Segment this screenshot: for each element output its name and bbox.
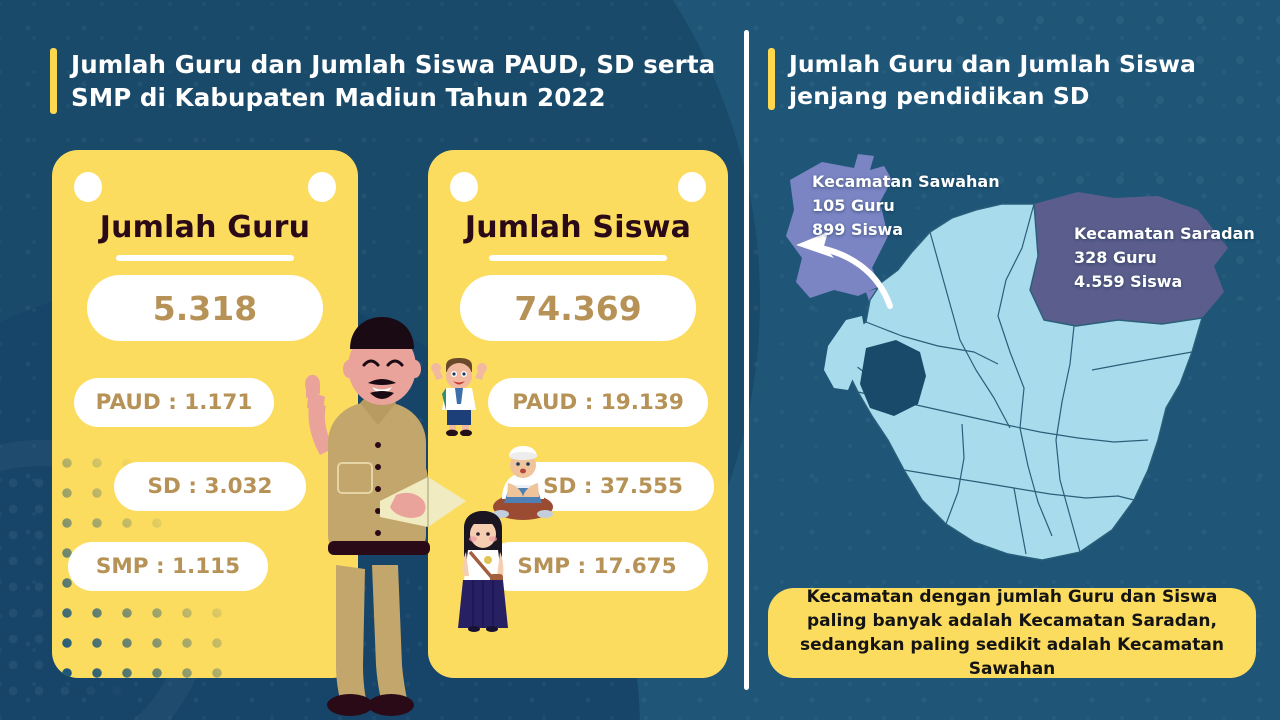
map-label-teachers: 105 Guru [812,194,1000,218]
card-title: Jumlah Siswa [428,210,728,245]
card-title-underline [489,255,667,261]
card-row-paud: PAUD : 1.171 [74,378,274,427]
punch-hole-icon [450,172,478,202]
panel-divider [744,30,749,690]
card-total-value: 74.369 [460,275,696,341]
map-region-enclave-dark [860,340,926,416]
card-row-smp: SMP : 1.115 [68,542,268,591]
card-row-paud: PAUD : 19.139 [488,378,708,427]
card-title-underline [116,255,294,261]
left-panel-title: Jumlah Guru dan Jumlah Siswa PAUD, SD se… [71,48,730,114]
student-paud-illustration [428,358,490,436]
header-accent-bar [768,48,775,110]
left-panel-header: Jumlah Guru dan Jumlah Siswa PAUD, SD se… [50,48,730,114]
map-summary-note: Kecamatan dengan jumlah Guru dan Siswa p… [768,588,1256,678]
right-panel-header: Jumlah Guru dan Jumlah Siswa jenjang pen… [768,48,1238,112]
map-label-district: Kecamatan Sawahan [812,170,1000,194]
card-row-smp: SMP : 17.675 [486,542,708,591]
punch-hole-icon [74,172,102,202]
map-summary-note-text: Kecamatan dengan jumlah Guru dan Siswa p… [786,585,1238,681]
punch-hole-icon [678,172,706,202]
map-label-students: 4.559 Siswa [1074,270,1255,294]
map-label-district: Kecamatan Saradan [1074,222,1255,246]
map-label-teachers: 328 Guru [1074,246,1255,270]
card-title: Jumlah Guru [52,210,358,245]
right-panel-title: Jumlah Guru dan Jumlah Siswa jenjang pen… [789,48,1238,112]
student-smp-illustration [452,510,514,632]
map-label-students: 899 Siswa [812,218,1000,242]
punch-hole-icon [308,172,336,202]
header-accent-bar [50,48,57,114]
map-label-sawahan: Kecamatan Sawahan 105 Guru 899 Siswa [812,170,1000,242]
map-label-saradan: Kecamatan Saradan 328 Guru 4.559 Siswa [1074,222,1255,294]
